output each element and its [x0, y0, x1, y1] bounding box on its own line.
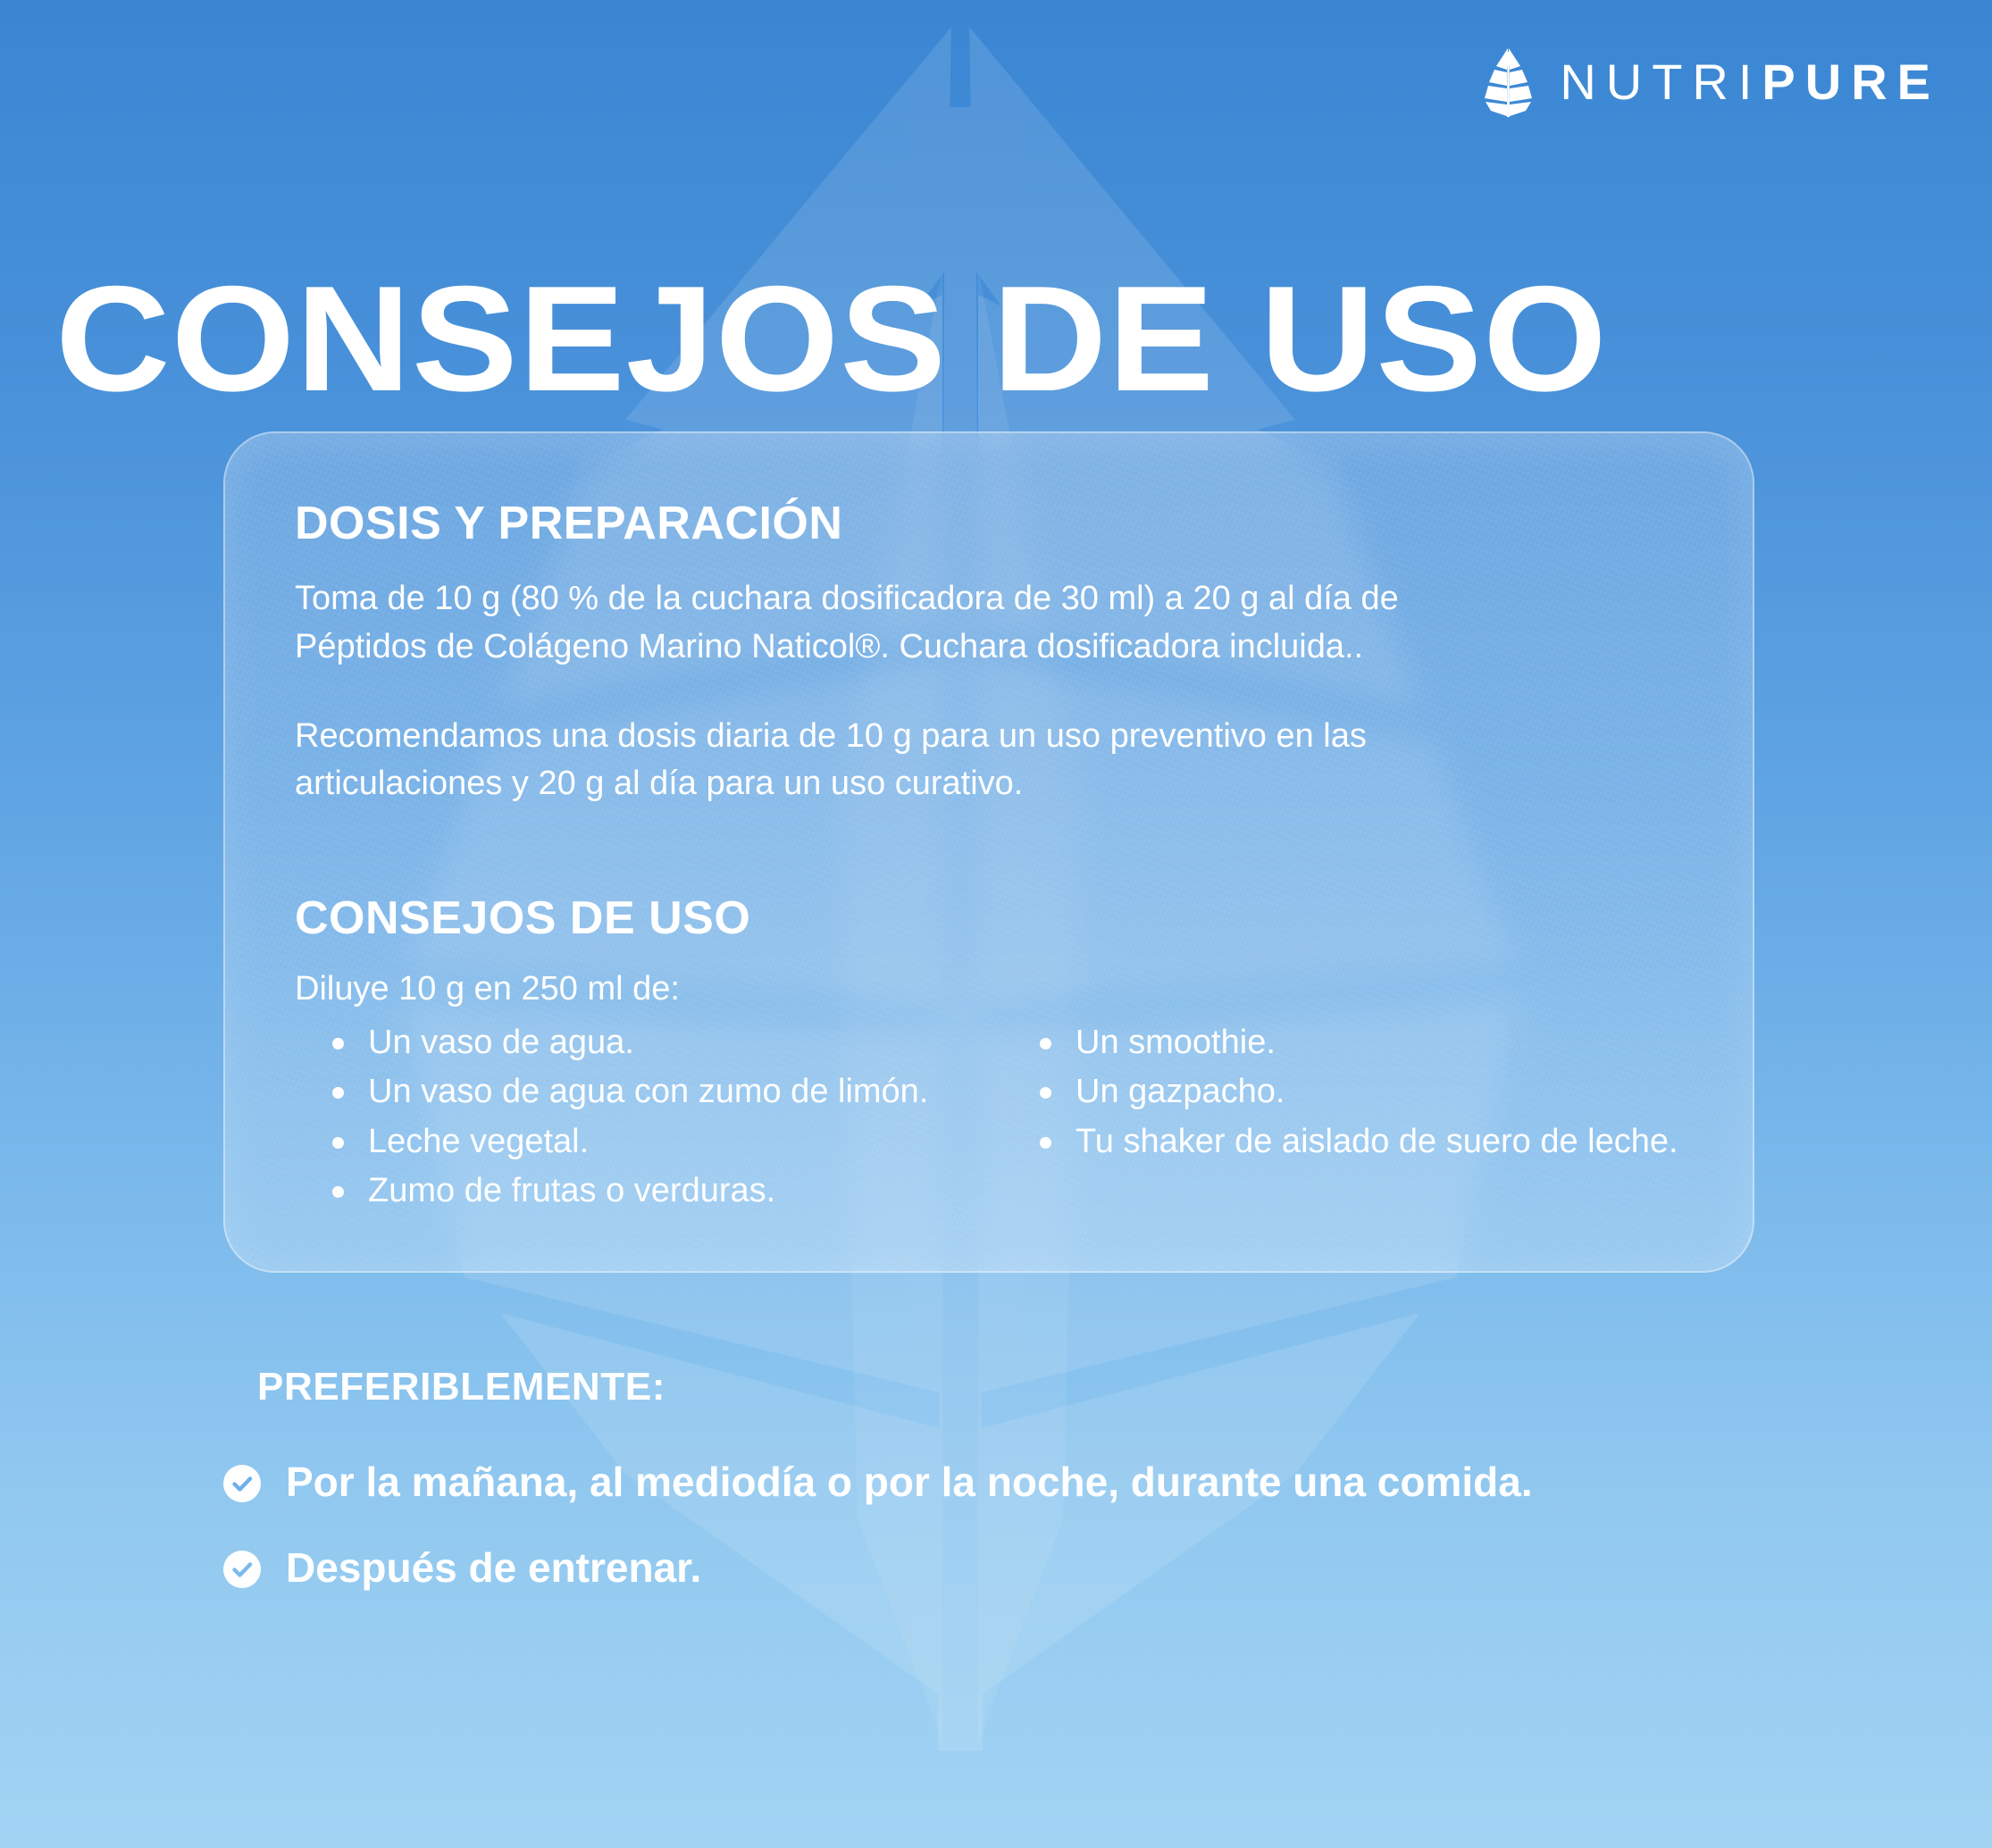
section-heading-dosage: DOSIS Y PREPARACIÓN: [295, 499, 1683, 548]
bullet-dot-icon: [332, 1038, 344, 1049]
infographic-page: NUTRIPURE CONSEJOS DE USO DOSIS Y PREPAR…: [0, 0, 1992, 1848]
bullet-dot-icon: [1040, 1038, 1051, 1049]
bullet-dot-icon: [332, 1087, 344, 1099]
list-item: Un smoothie.: [1034, 1021, 1683, 1064]
preferably-section: PREFERIBLEMENTE: Por la mañana, al medio…: [223, 1365, 1742, 1628]
leaf-icon: [1481, 46, 1536, 118]
preferably-title: PREFERIBLEMENTE:: [257, 1365, 1742, 1409]
bullet-dot-icon: [1040, 1087, 1051, 1099]
usage-bullets-left: Un vaso de agua. Un vaso de agua con zum…: [295, 1021, 975, 1218]
list-item: Un vaso de agua con zumo de limón.: [327, 1070, 975, 1113]
dosage-paragraph-1: Toma de 10 g (80 % de la cuchara dosific…: [295, 575, 1536, 672]
section-heading-usage: CONSEJOS DE USO: [295, 894, 1683, 943]
list-item: Un gazpacho.: [1034, 1070, 1683, 1113]
list-item-label: Un smoothie.: [1076, 1024, 1276, 1061]
usage-bullet-columns: Un vaso de agua. Un vaso de agua con zum…: [295, 1021, 1683, 1218]
brand-name-light: NUTRI: [1560, 54, 1762, 110]
list-item-label: Un vaso de agua.: [368, 1024, 634, 1061]
brand-logo[interactable]: NUTRIPURE: [1481, 46, 1940, 118]
list-item-label: Tu shaker de aislado de suero de leche.: [1076, 1123, 1678, 1160]
list-item: Por la mañana, al mediodía o por la noch…: [223, 1456, 1742, 1508]
usage-lead-line: Diluye 10 g en 250 ml de:: [295, 970, 1683, 1008]
check-circle-icon: [223, 1551, 261, 1588]
list-item-label: Zumo de frutas o verduras.: [368, 1172, 775, 1209]
bullet-dot-icon: [332, 1186, 344, 1198]
list-item: Después de entrenar.: [223, 1542, 1742, 1593]
list-item-label: Un vaso de agua con zumo de limón.: [368, 1073, 928, 1110]
list-item-label: Después de entrenar.: [286, 1542, 701, 1593]
bullet-dot-icon: [332, 1137, 344, 1149]
list-item: Leche vegetal.: [327, 1120, 975, 1163]
list-item: Tu shaker de aislado de suero de leche.: [1034, 1120, 1683, 1163]
dosage-paragraph-2: Recomendamos una dosis diaria de 10 g pa…: [295, 713, 1536, 809]
usage-bullets-right: Un smoothie. Un gazpacho. Tu shaker de a…: [975, 1021, 1683, 1218]
list-item-label: Por la mañana, al mediodía o por la noch…: [286, 1456, 1533, 1508]
bullet-dot-icon: [1040, 1137, 1051, 1149]
brand-wordmark: NUTRIPURE: [1560, 57, 1940, 107]
list-item: Zumo de frutas o verduras.: [327, 1169, 975, 1212]
list-item-label: Un gazpacho.: [1076, 1073, 1285, 1110]
page-title: CONSEJOS DE USO: [55, 263, 1608, 414]
brand-name-bold: PURE: [1762, 54, 1940, 110]
info-card: DOSIS Y PREPARACIÓN Toma de 10 g (80 % d…: [223, 431, 1754, 1273]
check-circle-icon: [223, 1465, 261, 1502]
list-item: Un vaso de agua.: [327, 1021, 975, 1064]
list-item-label: Leche vegetal.: [368, 1123, 589, 1160]
